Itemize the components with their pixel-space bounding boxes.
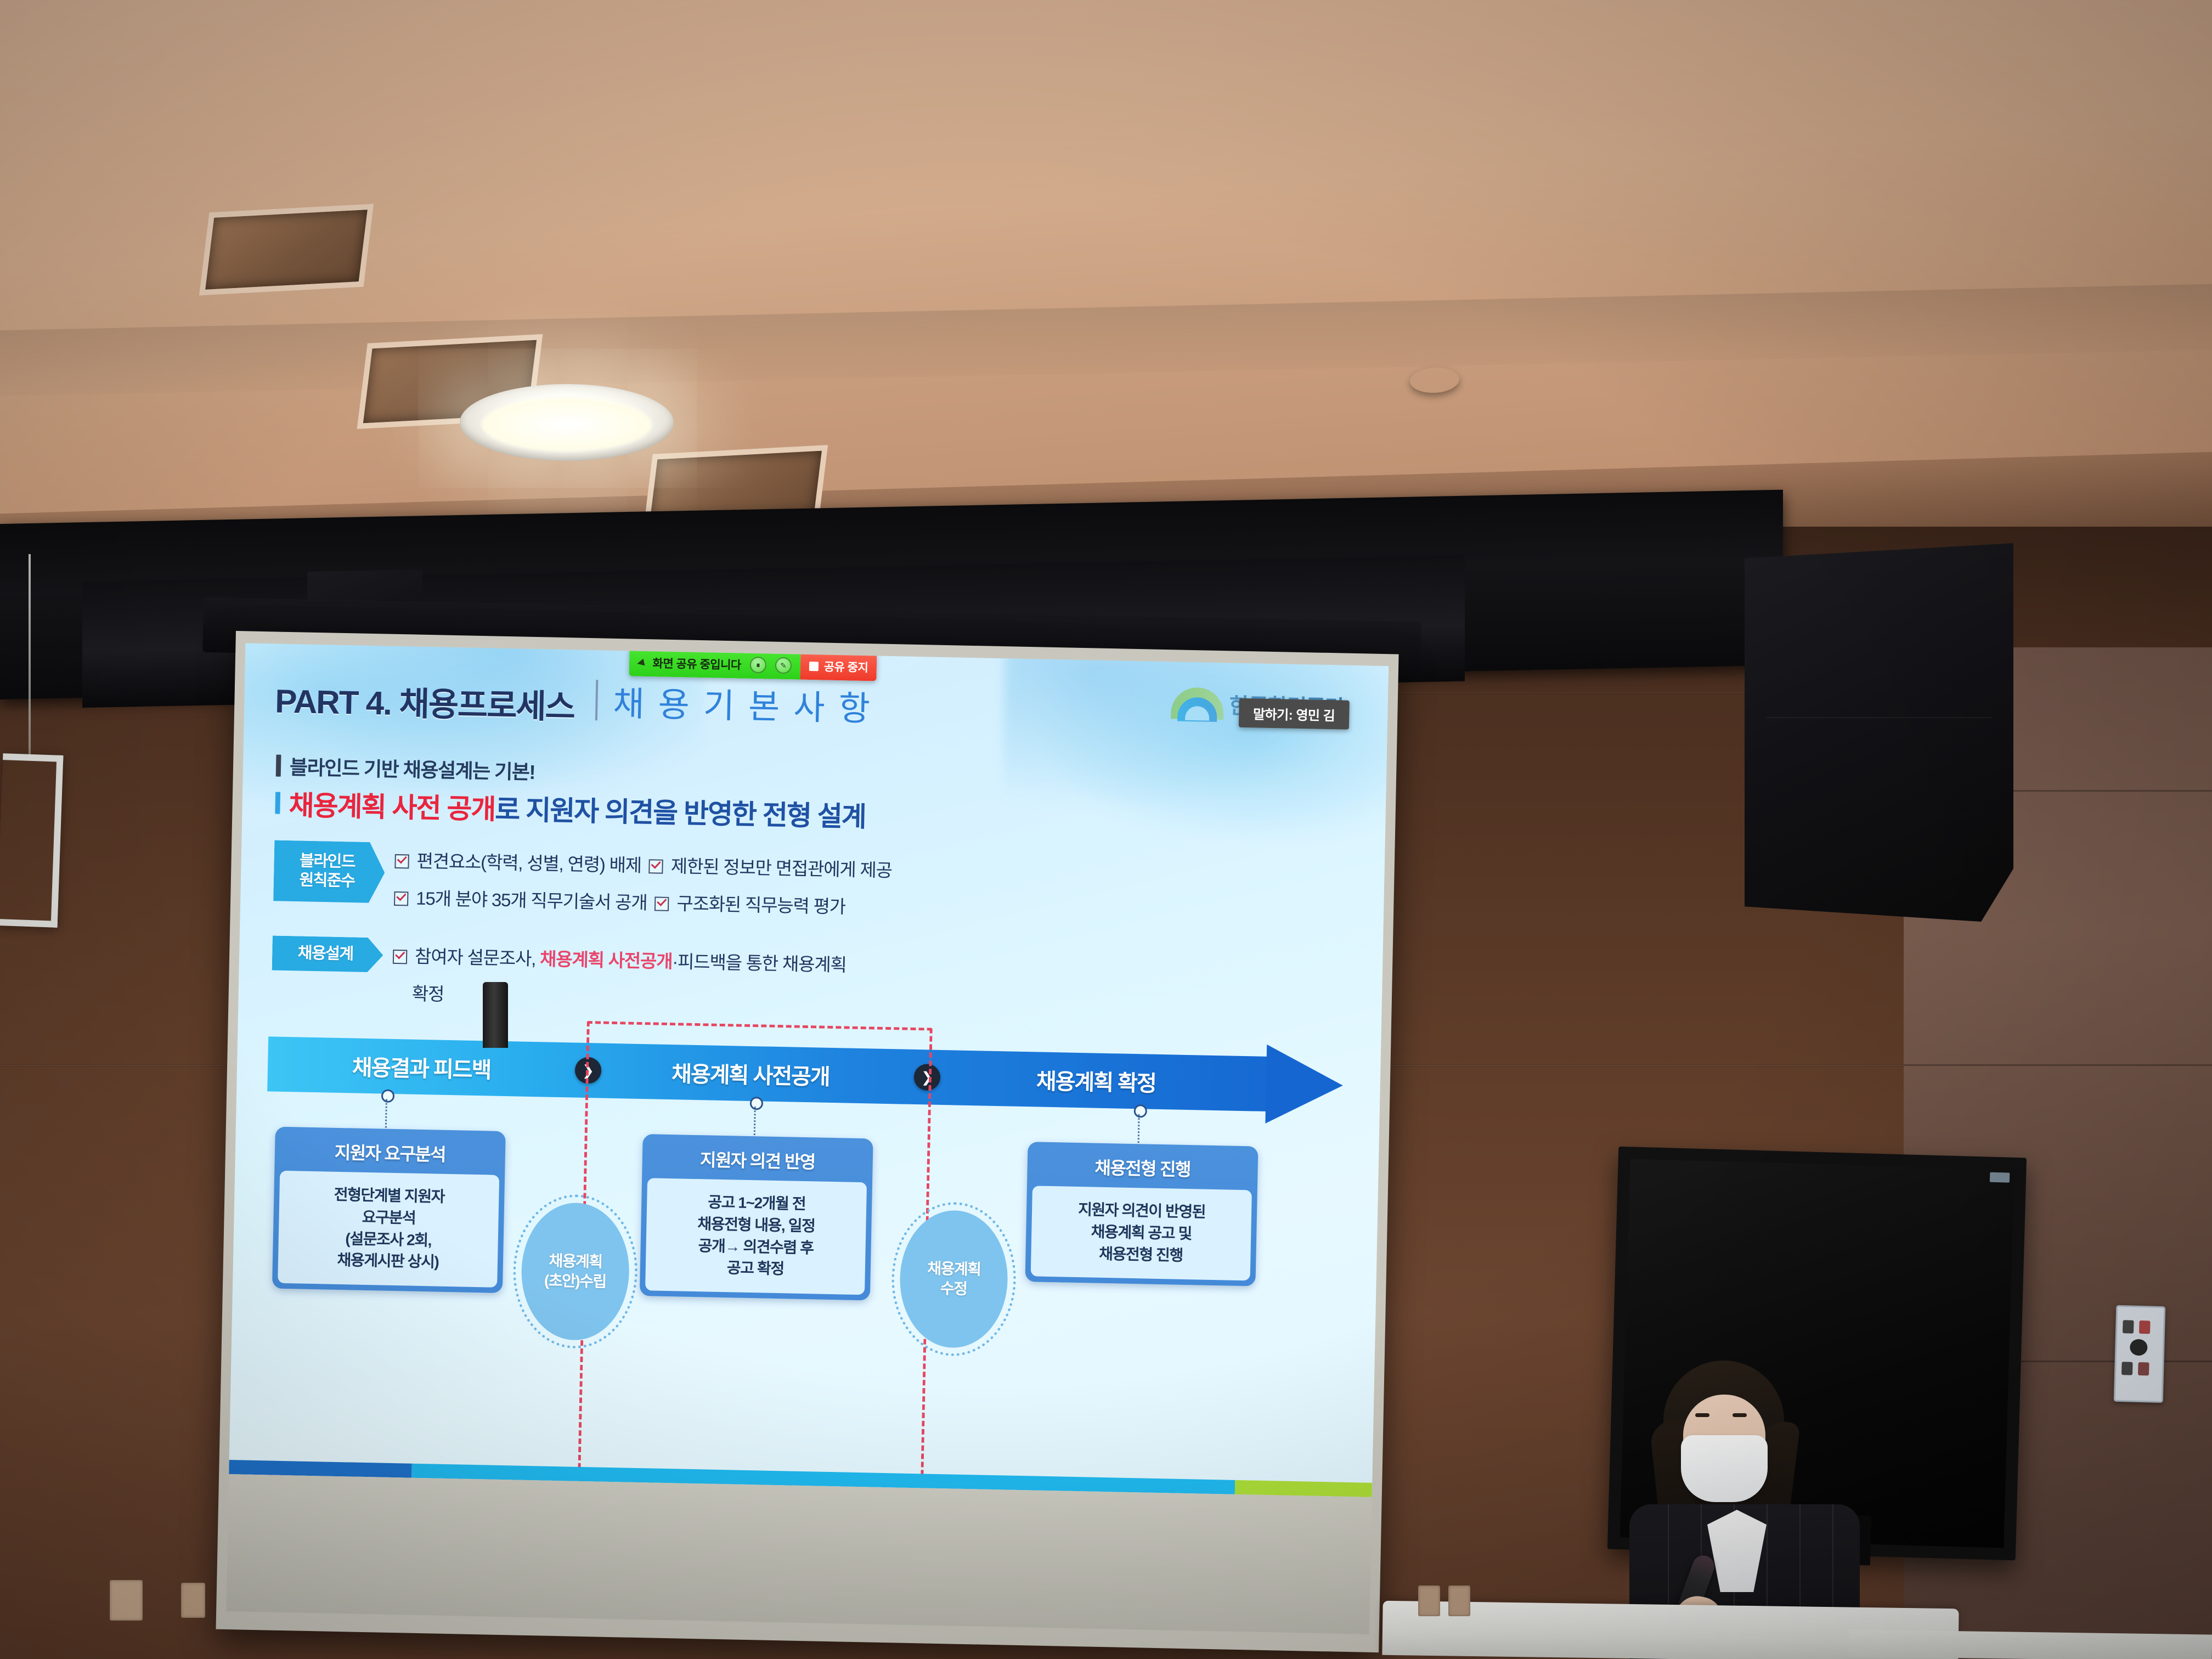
checklist-text-continued: 확정 <box>411 979 845 1014</box>
connector-line <box>1137 1114 1139 1146</box>
arrow-head-icon <box>1265 1045 1344 1125</box>
connector-node <box>750 1097 763 1110</box>
wall-av-panel[interactable] <box>2114 1305 2166 1403</box>
interim-step-oval: 채용계획 (초안)수립 <box>520 1202 630 1341</box>
oval-line1: 채용계획 <box>549 1251 602 1272</box>
wall-outlet <box>181 1583 205 1618</box>
pause-circle-icon[interactable]: ⏸ <box>749 657 766 674</box>
checklist-text-pre: 참여자 설문조사, <box>415 946 540 969</box>
ceiling-seam <box>0 284 2212 396</box>
lead-statement: 블라인드 기반 채용설계는 기본! 채용계획 사전 공개로 지원자 의견을 반영… <box>275 752 867 838</box>
connector-line <box>385 1099 387 1131</box>
screen-blank-area <box>226 1474 1372 1634</box>
checkbox-icon <box>394 891 409 906</box>
section-tag-line1: 블라인드 <box>286 851 369 872</box>
detail-card: 지원자 의견 반영 공고 1~2개월 전채용전형 내용, 일정공개→ 의견수렴 … <box>640 1134 873 1300</box>
checkbox-icon <box>654 896 669 911</box>
checkbox-icon <box>393 950 408 964</box>
checklist-text: 15개 분야 35개 직무기술서 공개 <box>416 884 647 915</box>
section-tag: 블라인드 원칙준수 <box>273 840 385 903</box>
connector-node <box>1134 1104 1147 1118</box>
checkbox-icon <box>394 854 409 869</box>
ceiling-light <box>460 384 674 461</box>
tv-brand-badge <box>1990 1172 2010 1183</box>
av-jack[interactable] <box>2123 1320 2134 1334</box>
checklist-row: 참여자 설문조사, 채용계획 사전공개·피드백을 통한 채용계획 <box>393 941 847 977</box>
photo-of-presentation-room: ◀ 화면 공유 중입니다 ⏸ ✎ 공유 중지 PART 4. 채용프로세스 채 … <box>0 0 2212 1659</box>
caret-icon[interactable]: ◀ <box>636 657 645 669</box>
share-status-label: 화면 공유 중입니다 <box>652 654 741 673</box>
card-body: 공고 1~2개월 전채용전형 내용, 일정공개→ 의견수렴 후공고 확정 <box>645 1178 867 1295</box>
card-header: 지원자 요구분석 <box>280 1132 500 1175</box>
process-step-3: 채용계획 확정 <box>942 1050 1250 1111</box>
section-recruit-design: 채용설계 참여자 설문조사, 채용계획 사전공개·피드백을 통한 채용계획 확정 <box>271 935 847 1014</box>
card-body: 지원자 의견이 반영된채용계획 공고 및채용전형 진행 <box>1031 1186 1252 1280</box>
checklist-text-post: ·피드백을 통한 채용계획 <box>672 951 847 975</box>
section-tag-line2: 원칙준수 <box>286 871 369 891</box>
card-header: 지원자 의견 반영 <box>647 1139 867 1182</box>
logo-arc-icon <box>1171 687 1224 720</box>
connector-node <box>381 1089 394 1102</box>
page-title: PART 4. 채용프로세스 <box>275 674 575 728</box>
detail-card: 채용전형 진행 지원자 의견이 반영된채용계획 공고 및채용전형 진행 <box>1025 1142 1258 1286</box>
section-tag: 채용설계 <box>272 935 383 972</box>
active-speaker-badge: 말하기: 영민 김 <box>1239 698 1350 730</box>
section-blind-principles: 블라인드 원칙준수 편견요소(학력, 성별, 연령) 배제 제한된 정보만 면접… <box>273 840 893 930</box>
oval-line1: 채용계획 <box>927 1259 981 1279</box>
card-header: 채용전형 진행 <box>1032 1147 1252 1190</box>
wall-outlet <box>1448 1585 1470 1616</box>
ceiling <box>0 0 2212 554</box>
oval-line2: (초안)수립 <box>544 1271 606 1293</box>
projection-screen: ◀ 화면 공유 중입니다 ⏸ ✎ 공유 중지 PART 4. 채용프로세스 채 … <box>216 631 1398 1652</box>
eye <box>1695 1413 1709 1417</box>
oval-line2: 수정 <box>940 1279 967 1299</box>
process-arrow: 채용결과 피드백 ❯ 채용계획 사전공개 ❯ 채용계획 확정 <box>267 1036 1344 1113</box>
microphone-stand <box>483 982 508 1048</box>
pencil-circle-icon[interactable]: ✎ <box>775 657 792 674</box>
hanging-wire <box>29 554 31 757</box>
checklist-text: 구조화된 직무능력 평가 <box>676 889 845 918</box>
av-jack[interactable] <box>2130 1339 2148 1356</box>
stop-share-label: 공유 중지 <box>823 658 868 676</box>
share-status-pill: ◀ 화면 공유 중입니다 ⏸ ✎ <box>629 648 800 679</box>
wall-outlet <box>1418 1585 1440 1616</box>
process-step-1: 채용결과 피드백 <box>267 1036 575 1097</box>
stop-square-icon <box>809 661 819 670</box>
wall-outlet <box>110 1580 143 1621</box>
interim-step-oval: 채용계획 수정 <box>899 1210 1009 1349</box>
podium-extension <box>1849 1629 2212 1659</box>
page-subtitle: 채 용 기 본 사 항 <box>613 676 873 730</box>
checklist-row: 편견요소(학력, 성별, 연령) 배제 제한된 정보만 면접관에게 제공 <box>394 846 892 882</box>
checklist-row: 15개 분야 35개 직무기술서 공개 구조화된 직무능력 평가 <box>394 883 891 919</box>
checklist-text-highlight: 채용계획 사전공개 <box>540 949 673 972</box>
lead-highlight-blue: 로 지원자 의견을 반영한 전형 설계 <box>495 794 866 833</box>
face-mask <box>1681 1435 1768 1502</box>
process-step-2: 채용계획 사전공개 <box>596 1043 905 1104</box>
accent-bar <box>275 792 280 814</box>
process-detail-cards: 지원자 요구분석 전형단계별 지원자요구분석(설문조사 2회,채용게시판 상시)… <box>261 1126 1341 1406</box>
eye <box>1733 1413 1747 1417</box>
checklist-text: 편견요소(학력, 성별, 연령) 배제 <box>416 847 641 877</box>
lead-small-text: 블라인드 기반 채용설계는 기본! <box>290 752 535 785</box>
stop-share-button[interactable]: 공유 중지 <box>800 652 877 681</box>
checklist-text: 제한된 정보만 면접관에게 제공 <box>670 851 892 882</box>
card-body: 전형단계별 지원자요구분석(설문조사 2회,채용게시판 상시) <box>278 1171 499 1288</box>
title-divider <box>595 680 598 720</box>
checkbox-icon <box>649 859 664 874</box>
av-jack[interactable] <box>2121 1362 2133 1375</box>
av-jack[interactable] <box>2138 1362 2149 1376</box>
lead-highlight-red: 채용계획 사전 공개 <box>289 790 495 825</box>
connector-line <box>754 1107 756 1138</box>
accent-bar <box>276 755 281 777</box>
hanging-frame <box>0 753 63 928</box>
smoke-detector-icon <box>1409 366 1460 394</box>
av-jack[interactable] <box>2139 1321 2151 1334</box>
detail-card: 지원자 요구분석 전형단계별 지원자요구분석(설문조사 2회,채용게시판 상시) <box>272 1127 506 1293</box>
speaker-icon <box>1745 543 2013 922</box>
slide-content: ◀ 화면 공유 중입니다 ⏸ ✎ 공유 중지 PART 4. 채용프로세스 채 … <box>229 643 1389 1497</box>
air-vent <box>199 204 374 296</box>
